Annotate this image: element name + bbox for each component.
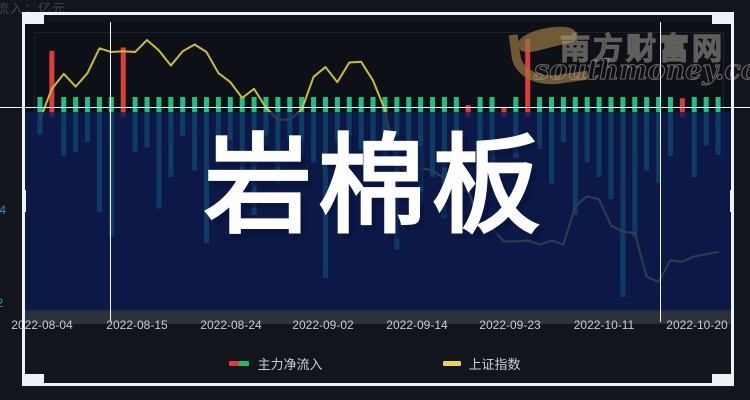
x-axis-tick: 2022-10-11 [574,318,635,332]
legend-item-main-net-inflow[interactable]: 主力净流入 [229,354,322,373]
x-axis-tick: 2022-08-15 [106,318,167,332]
legend-label-main-net-inflow: 主力净流入 [257,354,322,373]
x-axis-tick: 2022-08-04 [11,318,72,332]
selection-handle-bottom-right[interactable] [712,374,734,386]
legend-swatch-bar-icon [229,361,249,366]
legend-label-sse-index: 上证指数 [469,354,521,373]
selection-frame-bottom [22,383,734,386]
chart-legend: 主力净流入 上证指数 [0,352,750,374]
screenshot-root: 流入：亿元 39 0 25 644 62 岩棉板 南方财富网 southmone… [0,0,750,400]
chart-inner [34,32,724,304]
y-axis-label-n3: 62 [0,296,3,310]
x-axis-tick: 2022-08-24 [200,318,261,332]
selection-handle-bottom-left[interactable] [22,374,44,386]
selection-frame-top [22,12,734,15]
x-axis-tick: 2022-09-02 [292,318,353,332]
x-axis-tick: 2022-09-14 [386,318,447,332]
y-axis-label-n2: 644 [0,203,6,217]
x-axis-tick: 2022-10-20 [666,318,727,332]
x-axis: 2022-08-042022-08-152022-08-242022-09-02… [0,318,750,338]
legend-swatch-line-icon [443,361,461,366]
index-line [40,40,718,282]
index-line-layer [34,32,724,304]
legend-item-sse-index[interactable]: 上证指数 [443,354,521,373]
chart-plot-area[interactable] [24,22,732,312]
chart-unit-label: 流入：亿元 [0,0,66,17]
x-axis-tick: 2022-09-23 [479,318,540,332]
